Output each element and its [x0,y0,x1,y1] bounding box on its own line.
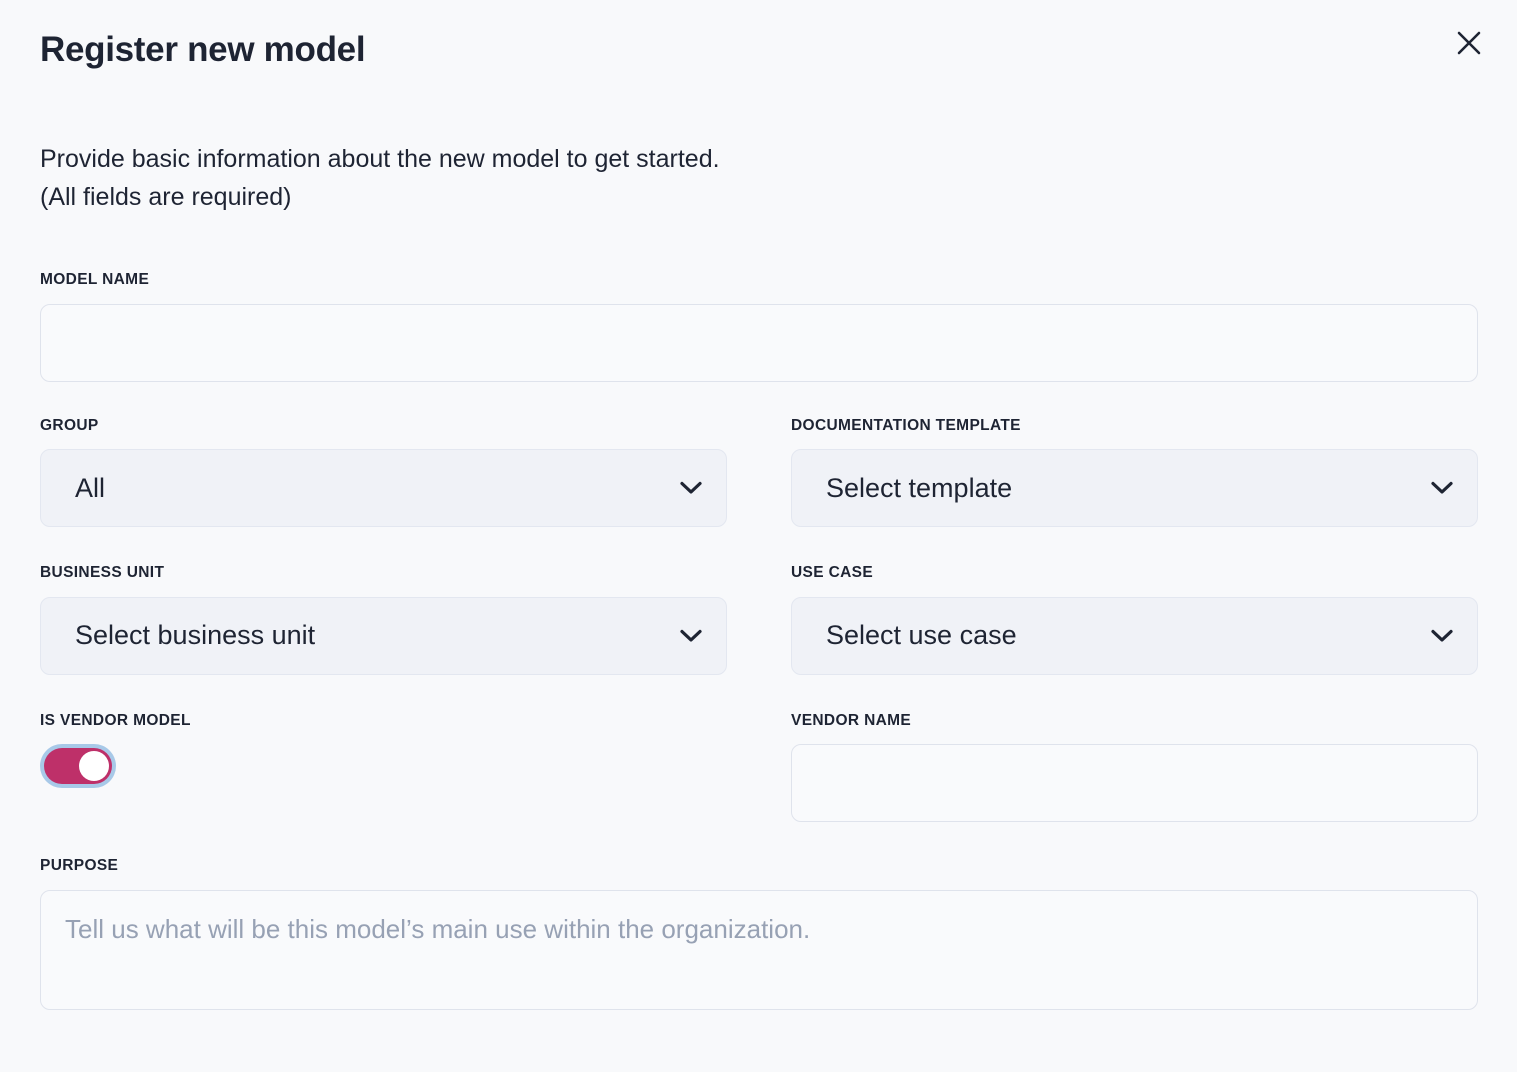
field-purpose: PURPOSE [40,858,1478,1010]
field-group: GROUP All [40,418,727,528]
field-is-vendor-model: IS VENDOR MODEL [40,713,727,823]
chevron-down-icon [1431,629,1453,643]
group-selected-value: All [75,475,105,502]
page-title: Register new model [40,30,365,70]
purpose-label: PURPOSE [40,858,1478,874]
register-new-model-dialog: Register new model Provide basic informa… [0,0,1517,1072]
documentation-template-label: DOCUMENTATION TEMPLATE [791,418,1478,434]
use-case-label: USE CASE [791,565,1478,581]
subtitle-line-2: (All fields are required) [40,178,720,216]
documentation-template-selected-value: Select template [826,475,1012,502]
is-vendor-model-toggle[interactable] [40,744,116,788]
business-unit-select[interactable]: Select business unit [40,597,727,675]
subtitle-line-1: Provide basic information about the new … [40,140,720,178]
business-unit-label: BUSINESS UNIT [40,565,727,581]
model-name-input[interactable] [40,304,1478,382]
vendor-name-label: VENDOR NAME [791,713,1478,729]
vendor-name-input[interactable] [791,744,1478,822]
field-documentation-template: DOCUMENTATION TEMPLATE Select template [791,418,1478,528]
is-vendor-model-label: IS VENDOR MODEL [40,713,727,729]
purpose-textarea[interactable] [40,890,1478,1010]
form-row-business-usecase: BUSINESS UNIT Select business unit USE C… [40,565,1478,675]
chevron-down-icon [680,629,702,643]
toggle-knob [79,751,109,781]
dialog-subtitle: Provide basic information about the new … [40,140,720,216]
business-unit-selected-value: Select business unit [75,622,315,649]
group-select[interactable]: All [40,449,727,527]
use-case-select[interactable]: Select use case [791,597,1478,675]
use-case-selected-value: Select use case [826,622,1017,649]
form-row-vendor: IS VENDOR MODEL VENDOR NAME [40,713,1478,823]
close-icon [1456,30,1482,56]
field-use-case: USE CASE Select use case [791,565,1478,675]
chevron-down-icon [680,481,702,495]
toggle-track [44,748,112,784]
register-model-form: MODEL NAME GROUP All DOCUMENTATION TEMPL… [40,272,1478,1010]
close-button[interactable] [1447,21,1491,65]
field-business-unit: BUSINESS UNIT Select business unit [40,565,727,675]
form-row-group-template: GROUP All DOCUMENTATION TEMPLATE Select … [40,418,1478,528]
model-name-label: MODEL NAME [40,272,1478,288]
field-model-name: MODEL NAME [40,272,1478,382]
documentation-template-select[interactable]: Select template [791,449,1478,527]
field-vendor-name: VENDOR NAME [791,713,1478,823]
group-label: GROUP [40,418,727,434]
chevron-down-icon [1431,481,1453,495]
